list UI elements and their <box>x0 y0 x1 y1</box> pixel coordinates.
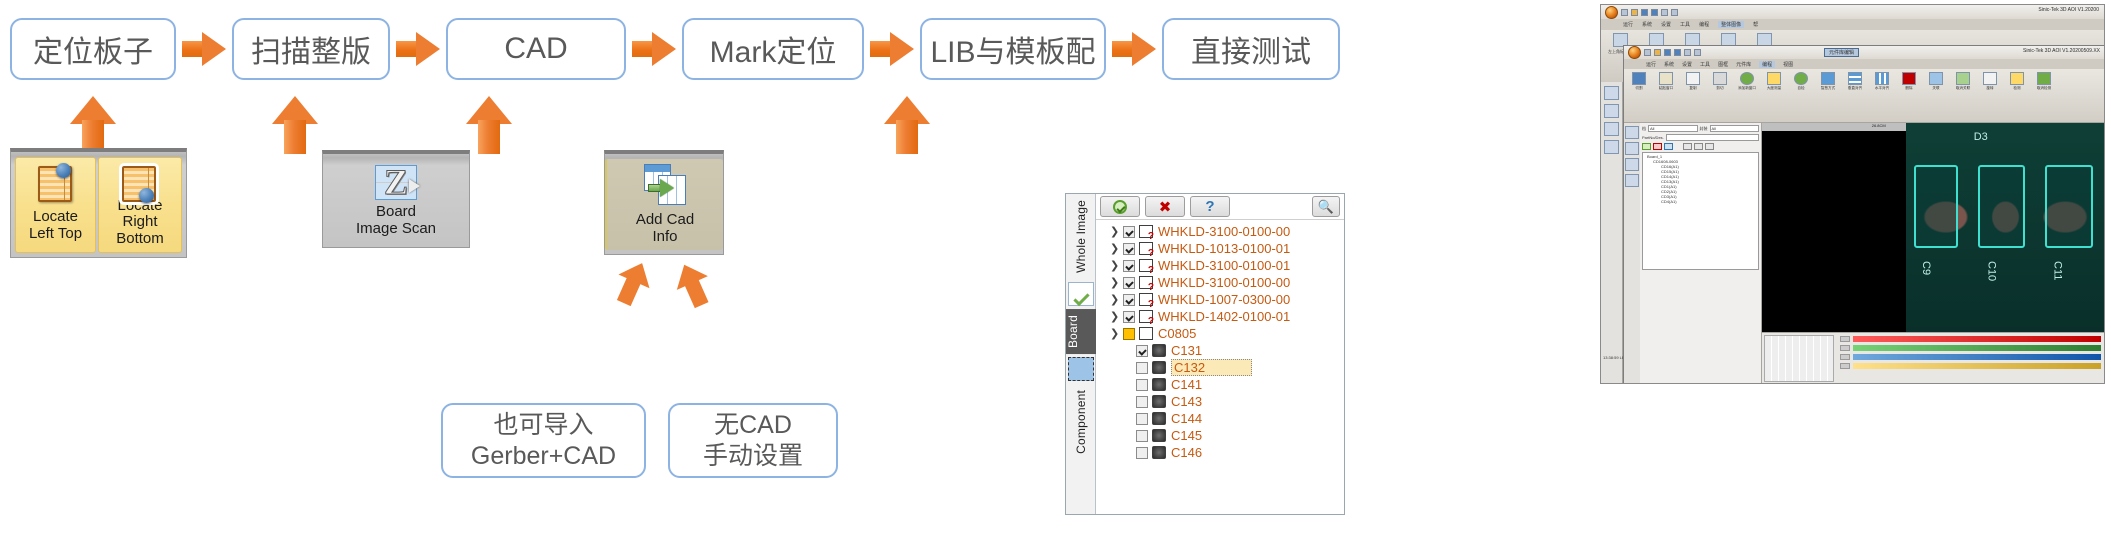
outer-tool-icon-1[interactable] <box>1604 86 1619 100</box>
row-label: C131 <box>1171 343 1202 358</box>
board-image-scan-label-line1: Board <box>376 204 416 221</box>
board-scatter-icon[interactable] <box>1068 282 1094 306</box>
inner-ribbon: 切割 粘贴窗口 复制 剪切 添加新窗口 大度测量 自检 智慧方式 垂直对齐 水平… <box>1624 69 2105 123</box>
rotate-icon <box>1983 72 1997 85</box>
inner-filter-select-2[interactable]: All <box>1710 125 1760 132</box>
inner-help-icon[interactable] <box>1694 49 1701 56</box>
threshold-bar-row <box>1840 345 2101 351</box>
flow-step-2-label: 扫描整版 <box>251 27 371 71</box>
diagram-root: 定位板子 扫描整版 CAD Mark定位 LIB与模板配 直接测试 Locate… <box>0 0 2111 544</box>
inner-ribbon-label-4: 剪切 <box>1716 86 1723 91</box>
flow-arrow-5-icon <box>1112 32 1156 66</box>
silk-label-c11: C11 <box>2051 261 2063 280</box>
diagonal-arrow-left-icon <box>608 256 662 312</box>
inner-window-titlebar: 元件库编辑 Sinic-Tek 3D AOI V1.20200509.XX <box>1624 46 2105 59</box>
chip-question-icon <box>1139 259 1153 272</box>
inner-left-body: 档 All 封装 All PartNo/Des. <box>1640 123 1761 384</box>
row-checkbox[interactable] <box>1123 243 1135 255</box>
chip-question-icon <box>1139 242 1153 255</box>
row-label: WHKLD-1007-0300-00 <box>1158 292 1290 307</box>
new-icon[interactable] <box>1621 9 1628 16</box>
inner-menu-edit[interactable]: 编程 <box>1759 61 1775 68</box>
row-label: WHKLD-1013-0100-01 <box>1158 241 1290 256</box>
table-row[interactable]: C143 <box>1096 393 1344 410</box>
save-as-icon[interactable] <box>1651 9 1658 16</box>
inner-window: 元件库编辑 Sinic-Tek 3D AOI V1.20200509.XX 运行… <box>1623 45 2105 384</box>
locate-left-top-label-line2: Left Top <box>29 226 82 243</box>
outer-menubar: 运行 系统 设置 工具 编程 整体图像 帮 <box>1601 19 2104 30</box>
pad-2 <box>1978 165 2026 249</box>
component-icon <box>1152 361 1166 374</box>
row-checkbox[interactable] <box>1136 413 1148 425</box>
paste-window-icon <box>1659 72 1673 85</box>
sidebar-tab-whole-image[interactable]: Whole Image <box>1074 194 1088 279</box>
inner-ribbon-button-8[interactable]: 智慧方式 <box>1817 72 1839 119</box>
app-logo-icon[interactable] <box>1605 6 1618 19</box>
flow-step-6[interactable]: 直接测试 <box>1162 18 1340 80</box>
row-checkbox[interactable] <box>1123 277 1135 289</box>
inner-filter-label-2: 封装 <box>1700 126 1708 132</box>
note-box-nocad-line2: 手动设置 <box>703 441 803 472</box>
flow-arrow-2-icon <box>396 32 440 66</box>
inner-ribbon-label-7: 自检 <box>1797 86 1804 91</box>
smart-mode-icon <box>1821 72 1835 85</box>
component-icon <box>1152 395 1166 408</box>
tree-body[interactable]: ❯WHKLD-3100-0100-00 ❯WHKLD-1013-0100-01 … <box>1096 220 1344 514</box>
inner-zoom-out-button[interactable] <box>1705 143 1714 150</box>
row-label: WHKLD-1402-0100-01 <box>1158 309 1290 324</box>
flow-step-3-label: CAD <box>504 32 567 66</box>
row-checkbox[interactable] <box>1123 226 1135 238</box>
link-icon <box>1929 72 1943 85</box>
inner-left-tab-4[interactable] <box>1625 174 1639 187</box>
outer-menu-program[interactable]: 编程 <box>1699 21 1709 28</box>
pcb-canvas[interactable]: 26.8CM 27.3CM 27.8CM D3 C9 C10 C11 <box>1762 123 2105 332</box>
inner-ribbon-label-16: 取消检测 <box>2037 86 2051 91</box>
reject-button[interactable]: ✖ <box>1145 196 1185 217</box>
board-image-scan-button[interactable]: Board Image Scan <box>327 159 465 243</box>
note-box-gerber-line2: Gerber+CAD <box>471 441 616 472</box>
measure-icon <box>1767 72 1781 85</box>
scan-ribbon-group: Board Image Scan <box>322 150 470 248</box>
align-horizontal-icon <box>1875 72 1889 85</box>
note-box-gerber[interactable]: 也可导入 Gerber+CAD <box>441 403 646 478</box>
add-cad-grid-icon <box>642 164 688 208</box>
inner-save-as-icon[interactable] <box>1674 49 1681 56</box>
component-square-icon[interactable] <box>1068 357 1094 381</box>
flow-step-3[interactable]: CAD <box>446 18 626 80</box>
component-icon <box>1152 412 1166 425</box>
save-icon[interactable] <box>1641 9 1648 16</box>
inner-menu-settings[interactable]: 设置 <box>1682 61 1692 68</box>
x-mark-icon: ✖ <box>1159 198 1172 216</box>
chevron-down-icon[interactable]: ❯ <box>1110 327 1123 340</box>
locate-right-bottom-label-line1: Locate Right <box>105 198 175 232</box>
locate-left-top-button[interactable]: Locate Left Top <box>15 157 96 253</box>
table-row[interactable]: C146 <box>1096 444 1344 461</box>
bar-row-icon <box>1840 363 1850 369</box>
clip-icon <box>1713 72 1727 85</box>
inner-accept-button[interactable] <box>1642 143 1651 150</box>
inner-menu-tools[interactable]: 工具 <box>1700 61 1710 68</box>
up-arrow-scan-icon <box>272 96 318 154</box>
flow-step-5[interactable]: LIB与模板配 <box>920 18 1106 80</box>
row-label: C146 <box>1171 445 1202 460</box>
inner-app-logo-icon[interactable] <box>1628 46 1641 59</box>
inner-menu-view[interactable]: 视图 <box>1783 61 1793 68</box>
inner-ribbon-label-1: 切割 <box>1635 86 1642 91</box>
inner-tree-row[interactable]: CD4(A1) <box>1645 199 1756 204</box>
tree-main: ✖ ? 🔍 ❯WHKLD-3100-0100-00 ❯WHKLD-1013-01… <box>1096 194 1344 514</box>
self-check-icon <box>1794 72 1808 85</box>
silk-label-d3: D3 <box>1974 131 1988 143</box>
inner-ribbon-button-4[interactable]: 剪切 <box>1709 72 1731 119</box>
inner-new-icon[interactable] <box>1644 49 1651 56</box>
inner-ribbon-label-10: 水平对齐 <box>1875 86 1889 91</box>
bar-yellow[interactable] <box>1853 363 2101 369</box>
open-folder-icon[interactable] <box>1631 9 1638 16</box>
outer-menu-settings[interactable]: 设置 <box>1661 21 1671 28</box>
bar-green[interactable] <box>1853 345 2101 351</box>
inner-ribbon-label-13: 取消关联 <box>1956 86 1970 91</box>
inner-ribbon-label-2: 粘贴窗口 <box>1659 86 1673 91</box>
bar-row-icon <box>1840 336 1850 342</box>
up-arrow-cad-icon <box>466 96 512 154</box>
outer-menu-system[interactable]: 系统 <box>1642 21 1652 28</box>
row-label: C0805 <box>1158 326 1196 341</box>
note-box-gerber-line1: 也可导入 <box>471 410 616 441</box>
inner-ribbon-label-9: 垂直对齐 <box>1848 86 1862 91</box>
inner-ribbon-button-3[interactable]: 复制 <box>1682 72 1704 119</box>
bar-red[interactable] <box>1853 336 2101 342</box>
flow-step-1[interactable]: 定位板子 <box>10 18 176 80</box>
inner-tree[interactable]: Board_1 CD1608-0603 CD16(A1) CD15(A1) CD… <box>1642 152 1759 270</box>
flow-step-5-label: LIB与模板配 <box>930 27 1095 71</box>
row-checkbox[interactable] <box>1136 362 1148 374</box>
silk-label-c9: C9 <box>1920 261 1932 275</box>
inner-ribbon-label-5: 添加新窗口 <box>1738 86 1756 91</box>
pad-3 <box>2045 165 2093 249</box>
sidebar-tab-board[interactable]: Board <box>1066 309 1096 354</box>
chip-question-icon <box>1139 310 1153 323</box>
chip-question-icon <box>1139 225 1153 238</box>
inner-menu-library[interactable]: 元件库 <box>1736 61 1751 68</box>
row-label: C144 <box>1171 411 1202 426</box>
inner-ribbon-button-16[interactable]: 取消检测 <box>2033 72 2055 119</box>
outer-left-toolstrip <box>1601 82 1623 383</box>
inner-left-tabstrip <box>1624 123 1640 384</box>
chevron-right-icon[interactable]: ❯ <box>1110 225 1123 238</box>
zoom-button[interactable]: 🔍 <box>1312 196 1340 217</box>
note-pin-topleft-icon <box>36 163 76 205</box>
align-vertical-icon <box>1848 72 1862 85</box>
flow-arrow-1-icon <box>182 32 226 66</box>
inner-ribbon-button-15[interactable]: 检测 <box>2006 72 2028 119</box>
inner-ribbon-label-14: 旋转 <box>1986 86 1993 91</box>
process-flow-row: 定位板子 扫描整版 CAD Mark定位 LIB与模板配 直接测试 <box>10 14 1590 84</box>
note-box-nocad[interactable]: 无CAD 手动设置 <box>668 403 838 478</box>
inner-settings-button[interactable] <box>1683 143 1692 150</box>
inspect-icon <box>2037 72 2051 85</box>
bar-row-icon <box>1840 345 1850 351</box>
chevron-right-icon[interactable]: ❯ <box>1110 242 1123 255</box>
inner-ribbon-button-5[interactable]: 添加新窗口 <box>1736 72 1758 119</box>
up-arrow-lib-icon <box>884 96 930 154</box>
outer-product-title: Sinic-Tek 3D AOI V1.20200 <box>2038 7 2099 13</box>
lightbulb-icon <box>2010 72 2024 85</box>
outer-tool-icon-2[interactable] <box>1604 104 1619 118</box>
inner-menu-system[interactable]: 系统 <box>1664 61 1674 68</box>
inner-ribbon-button-9[interactable]: 垂直对齐 <box>1844 72 1866 119</box>
outer-menu-whole-image[interactable]: 整体图像 <box>1718 21 1744 28</box>
inner-reject-button[interactable] <box>1653 143 1662 150</box>
inner-partno-label: PartNo/Des. <box>1642 135 1664 140</box>
unknown-button[interactable]: ? <box>1190 196 1230 217</box>
inner-ribbon-label-6: 大度测量 <box>1767 86 1781 91</box>
aoi-application-screenshot: Sinic-Tek 3D AOI V1.20200 运行 系统 设置 工具 编程… <box>1600 4 2105 384</box>
row-label: C141 <box>1171 377 1202 392</box>
row-checkbox[interactable] <box>1136 430 1148 442</box>
add-cad-info-label-line1: Add Cad <box>636 212 694 229</box>
inner-save-icon[interactable] <box>1664 49 1671 56</box>
copy-icon <box>1686 72 1700 85</box>
chip-question-icon <box>1139 293 1153 306</box>
cad-ribbon-group: Add Cad Info <box>604 150 724 255</box>
inner-active-tab-pill: 元件库编辑 <box>1824 48 1859 57</box>
flow-step-6-label: 直接测试 <box>1191 27 1311 71</box>
locate-right-bottom-label-line2: Bottom <box>116 231 164 248</box>
add-cad-info-button[interactable]: Add Cad Info <box>605 159 723 250</box>
z-scan-icon <box>375 165 417 200</box>
table-row[interactable]: C131 <box>1096 342 1344 359</box>
flow-step-4-label: Mark定位 <box>710 27 837 71</box>
inner-ribbon-label-3: 复制 <box>1689 86 1696 91</box>
inner-open-folder-icon[interactable] <box>1654 49 1661 56</box>
row-checkbox[interactable] <box>1136 345 1148 357</box>
chip-icon <box>1139 327 1153 340</box>
inner-left-tab-2[interactable] <box>1625 142 1639 155</box>
inner-ribbon-button-13[interactable]: 取消关联 <box>1952 72 1974 119</box>
locate-ribbon-group: Locate Left Top Locate Right Bottom <box>10 148 187 258</box>
silk-label-c10: C10 <box>1986 261 1998 281</box>
measurement-grid-chart <box>1764 335 1834 382</box>
magnifier-icon: 🔍 <box>1318 199 1334 215</box>
flow-step-2[interactable]: 扫描整版 <box>232 18 390 80</box>
threshold-bars <box>1836 333 2105 384</box>
inner-ribbon-button-10[interactable]: 水平对齐 <box>1871 72 1893 119</box>
component-tree-panel: Whole Image Board Component ✖ ? 🔍 ❯WHKLD… <box>1065 193 1345 515</box>
table-row[interactable]: ❯WHKLD-3100-0100-01 <box>1096 257 1344 274</box>
component-icon <box>1152 446 1166 459</box>
table-row[interactable]: C144 <box>1096 410 1344 427</box>
inner-filter-label-1: 档 <box>1642 126 1646 132</box>
row-label: C145 <box>1171 428 1202 443</box>
row-checkbox[interactable] <box>1123 328 1135 340</box>
tree-toolbar: ✖ ? 🔍 <box>1096 194 1344 220</box>
threshold-bar-row <box>1840 363 2101 369</box>
table-row[interactable]: ❯WHKLD-1402-0100-01 <box>1096 308 1344 325</box>
note-box-nocad-line1: 无CAD <box>703 410 803 441</box>
add-window-icon <box>1740 72 1754 85</box>
outer-tool-icon-4[interactable] <box>1604 140 1619 154</box>
row-label: C143 <box>1171 394 1202 409</box>
flow-arrow-3-icon <box>632 32 676 66</box>
table-row[interactable]: ❯WHKLD-3100-0100-00 <box>1096 223 1344 240</box>
inner-menubar: 运行 系统 设置 工具 图框 元件库 编程 视图 <box>1624 59 2105 69</box>
flow-step-1-label: 定位板子 <box>33 27 153 71</box>
inner-left-tab-3[interactable] <box>1625 158 1639 171</box>
inner-ribbon-button-11[interactable]: 删除 <box>1898 72 1920 119</box>
inner-settings-icon[interactable] <box>1684 49 1691 56</box>
diagonal-arrow-right-icon <box>668 256 722 312</box>
inner-zoom-in-button[interactable] <box>1694 143 1703 150</box>
inner-filter-select-1[interactable]: All <box>1648 125 1698 132</box>
inner-partno-input[interactable] <box>1666 134 1759 141</box>
chevron-right-icon[interactable]: ❯ <box>1110 276 1123 289</box>
pcb-image: D3 C9 C10 C11 <box>1906 123 2105 332</box>
inner-ribbon-label-8: 智慧方式 <box>1821 86 1835 91</box>
row-checkbox[interactable] <box>1136 379 1148 391</box>
outer-menu-tools[interactable]: 工具 <box>1680 21 1690 28</box>
sidebar-tab-component[interactable]: Component <box>1074 384 1088 460</box>
chevron-right-icon[interactable]: ❯ <box>1110 293 1123 306</box>
row-checkbox[interactable] <box>1136 447 1148 459</box>
table-row[interactable]: C145 <box>1096 427 1344 444</box>
row-checkbox[interactable] <box>1123 311 1135 323</box>
table-row[interactable]: C141 <box>1096 376 1344 393</box>
table-row[interactable]: ❯WHKLD-1007-0300-00 <box>1096 291 1344 308</box>
component-icon <box>1152 378 1166 391</box>
component-icon <box>1152 344 1166 357</box>
locate-left-top-label-line1: Locate <box>33 209 78 226</box>
table-row[interactable]: ❯WHKLD-3100-0100-00 <box>1096 274 1344 291</box>
up-arrow-locate-icon <box>70 96 116 154</box>
inner-left-panel: 档 All 封装 All PartNo/Des. <box>1624 123 1762 384</box>
inner-ribbon-label-12: 关联 <box>1932 86 1939 91</box>
flow-step-4[interactable]: Mark定位 <box>682 18 864 80</box>
delete-icon <box>1902 72 1916 85</box>
table-row[interactable]: ❯WHKLD-1013-0100-01 <box>1096 240 1344 257</box>
row-label: C132 <box>1171 359 1252 376</box>
table-row[interactable]: ❯C0805 <box>1096 325 1344 342</box>
row-checkbox[interactable] <box>1123 260 1135 272</box>
note-pin-bottomright-icon <box>120 163 160 194</box>
settings-icon[interactable] <box>1661 9 1668 16</box>
inner-bottom-panel <box>1762 332 2105 384</box>
chevron-right-icon[interactable]: ❯ <box>1110 259 1123 272</box>
inner-ribbon-button-14[interactable]: 旋转 <box>1979 72 2001 119</box>
add-cad-info-label-line2: Info <box>652 229 677 246</box>
bar-blue[interactable] <box>1853 354 2101 360</box>
tree-sidebar: Whole Image Board Component <box>1066 194 1096 514</box>
board-image-scan-label-line2: Image Scan <box>356 221 436 238</box>
inner-ribbon-button-7[interactable]: 自检 <box>1790 72 1812 119</box>
inner-ribbon-button-1[interactable]: 切割 <box>1628 72 1650 119</box>
accept-button[interactable] <box>1100 196 1140 217</box>
inner-ribbon-button-2[interactable]: 粘贴窗口 <box>1655 72 1677 119</box>
cut-icon <box>1632 72 1646 85</box>
pad-1 <box>1914 165 1958 249</box>
inner-menu-run[interactable]: 运行 <box>1646 61 1656 68</box>
outer-window-titlebar: Sinic-Tek 3D AOI V1.20200 <box>1601 5 2104 19</box>
table-row[interactable]: C132 <box>1096 359 1344 376</box>
inner-ribbon-button-12[interactable]: 关联 <box>1925 72 1947 119</box>
row-checkbox[interactable] <box>1123 294 1135 306</box>
check-circle-icon <box>1113 200 1127 214</box>
bar-row-icon <box>1840 354 1850 360</box>
inner-ribbon-label-15: 检测 <box>2013 86 2020 91</box>
chevron-right-icon[interactable]: ❯ <box>1110 310 1123 323</box>
locate-right-bottom-button[interactable]: Locate Right Bottom <box>98 157 182 253</box>
inner-ribbon-label-11: 删除 <box>1905 86 1912 91</box>
question-mark-icon: ? <box>1205 198 1214 215</box>
inner-unknown-button[interactable] <box>1664 143 1673 150</box>
outer-tool-icon-3[interactable] <box>1604 122 1619 136</box>
ruler-tick-1: 26.8CM <box>1872 123 1886 128</box>
inner-menu-frame[interactable]: 图框 <box>1718 61 1728 68</box>
threshold-bar-row <box>1840 354 2101 360</box>
row-label: WHKLD-3100-0100-00 <box>1158 224 1290 239</box>
threshold-bar-row <box>1840 336 2101 342</box>
inner-left-tab-1[interactable] <box>1625 126 1639 139</box>
help-icon[interactable] <box>1671 9 1678 16</box>
row-label: WHKLD-3100-0100-00 <box>1158 275 1290 290</box>
row-label: WHKLD-3100-0100-01 <box>1158 258 1290 273</box>
outer-menu-run[interactable]: 运行 <box>1623 21 1633 28</box>
flow-arrow-4-icon <box>870 32 914 66</box>
inner-product-title: Sinic-Tek 3D AOI V1.20200509.XX <box>2023 48 2100 54</box>
outer-menu-help[interactable]: 帮 <box>1753 21 1758 28</box>
inner-ribbon-button-6[interactable]: 大度测量 <box>1763 72 1785 119</box>
unlink-icon <box>1956 72 1970 85</box>
chip-question-icon <box>1139 276 1153 289</box>
component-icon <box>1152 429 1166 442</box>
row-checkbox[interactable] <box>1136 396 1148 408</box>
